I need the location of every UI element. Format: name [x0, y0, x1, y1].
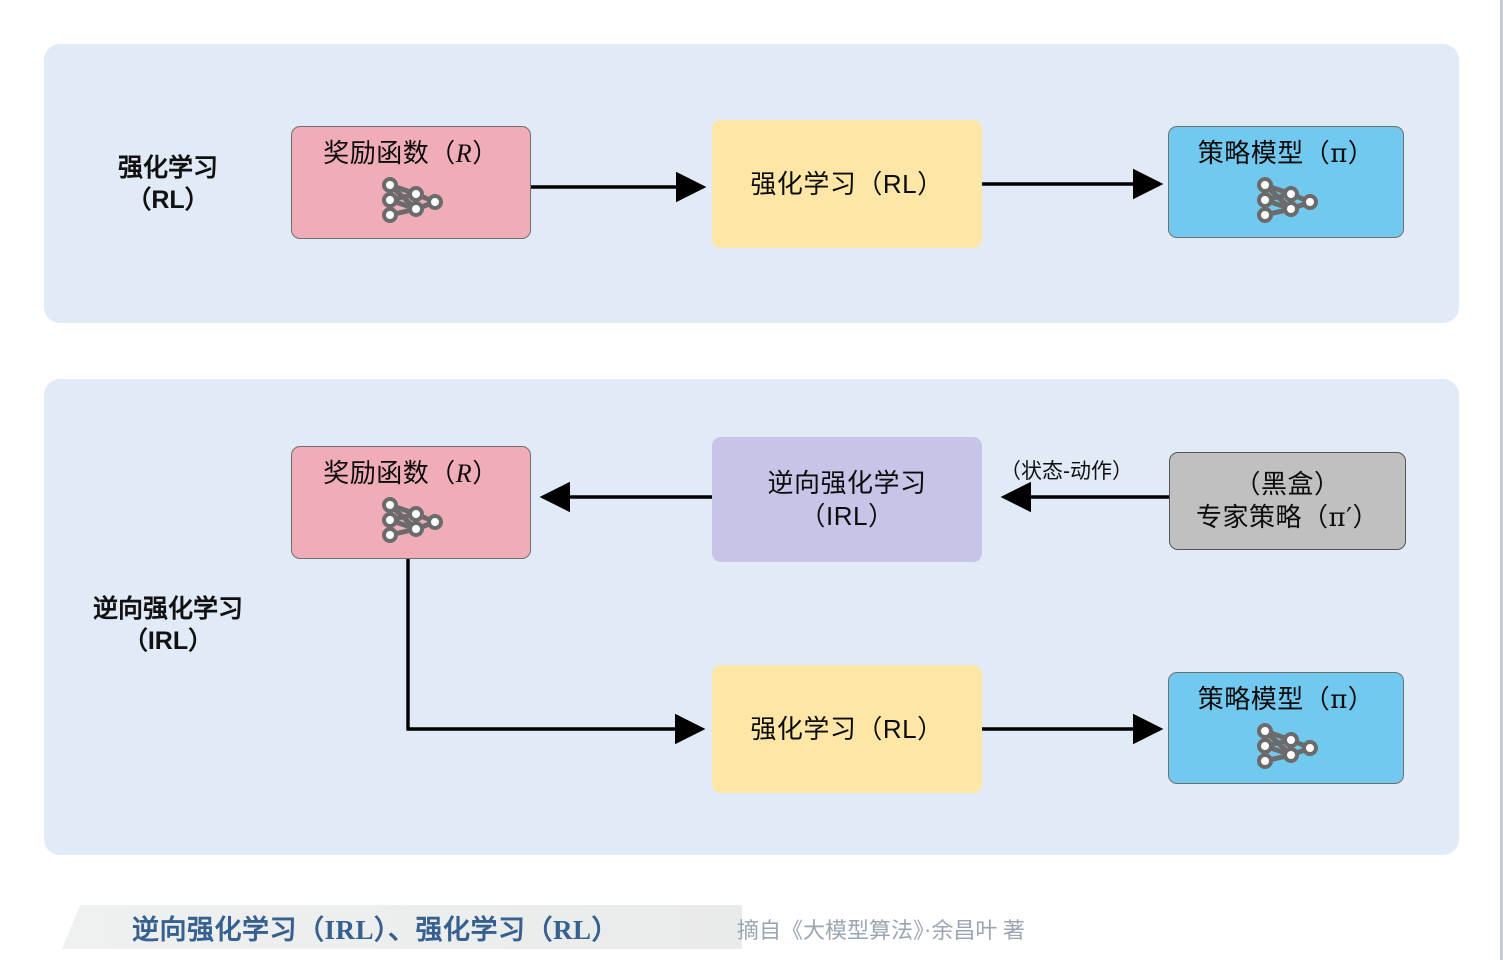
- section-label-rl-line1: 强化学习: [118, 154, 218, 182]
- node-irl-process-line1: 逆向强化学习: [767, 467, 926, 500]
- node-reward-function-rl[interactable]: 奖励函数（R）: [291, 126, 531, 239]
- caption-source: 摘自《大模型算法》·余昌叶 著: [737, 913, 1025, 945]
- node-reward-function-irl[interactable]: 奖励函数（R）: [291, 446, 531, 559]
- node-irl-process[interactable]: 逆向强化学习 （IRL）: [712, 437, 982, 562]
- caption-title: 逆向强化学习（IRL）、强化学习（RL）: [132, 908, 619, 947]
- node-policy-model-1[interactable]: 策略模型（π）: [1168, 126, 1404, 238]
- diagram-root: 强化学习 （RL） 奖励函数（R） 强化学习（RL） 策略模型（π）: [0, 0, 1503, 960]
- neural-network-icon: [373, 175, 449, 225]
- node-reward-function-irl-title: 奖励函数（R）: [323, 457, 498, 491]
- neural-network-icon: [1248, 175, 1324, 225]
- node-policy-model-2-title: 策略模型（π）: [1198, 683, 1375, 717]
- section-label-rl: 强化学习 （RL）: [58, 152, 278, 216]
- node-rl-process-1[interactable]: 强化学习（RL）: [712, 120, 982, 248]
- edge-label-state-action: （状态-动作）: [1000, 455, 1133, 485]
- node-rl-process-2-title: 强化学习（RL）: [750, 713, 943, 746]
- section-label-irl-line1: 逆向强化学习: [93, 595, 243, 623]
- node-expert-policy[interactable]: （黑盒） 专家策略（π′）: [1169, 452, 1406, 550]
- node-irl-process-line2: （IRL）: [800, 500, 895, 533]
- neural-network-icon: [373, 495, 449, 545]
- node-expert-policy-line2: 专家策略（π′）: [1196, 501, 1379, 535]
- node-reward-function-rl-title: 奖励函数（R）: [323, 137, 498, 171]
- node-policy-model-2[interactable]: 策略模型（π）: [1168, 672, 1404, 784]
- section-label-irl: 逆向强化学习 （IRL）: [58, 593, 278, 657]
- section-label-rl-line2: （RL）: [58, 184, 278, 216]
- node-policy-model-1-title: 策略模型（π）: [1198, 137, 1375, 171]
- node-rl-process-1-title: 强化学习（RL）: [750, 168, 943, 201]
- node-rl-process-2[interactable]: 强化学习（RL）: [712, 665, 982, 793]
- neural-network-icon: [1248, 721, 1324, 771]
- section-label-irl-line2: （IRL）: [58, 625, 278, 657]
- node-expert-policy-line1: （黑盒）: [1234, 468, 1340, 501]
